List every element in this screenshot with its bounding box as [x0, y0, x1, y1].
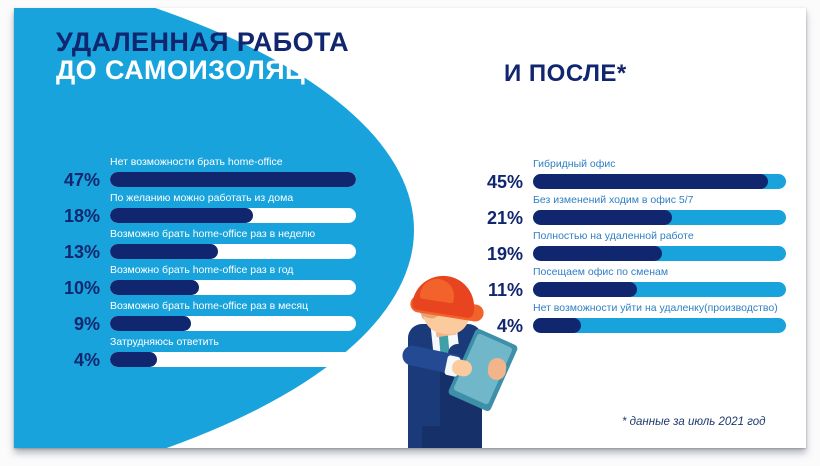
- bar-row: 47% Нет возможности брать home-office: [54, 156, 364, 192]
- bar-value: 18%: [54, 206, 100, 227]
- bar-fill: [110, 208, 253, 223]
- bar-fill: [110, 352, 157, 367]
- bar-row: 13% Возможно брать home-office раз в нед…: [54, 228, 364, 264]
- infographic-card: УДАЛЕННАЯ РАБОТА ДО САМОИЗОЛЯЦИИ И ПОСЛЕ…: [14, 8, 806, 448]
- bar-label: Возможно брать home-office раз в неделю: [110, 228, 315, 240]
- bar-value: 45%: [477, 172, 523, 193]
- bar-row: 10% Возможно брать home-office раз в год: [54, 264, 364, 300]
- bar-fill: [533, 282, 637, 297]
- bar-row: 21% Без изменений ходим в офис 5/7: [477, 194, 797, 230]
- bar-value: 10%: [54, 278, 100, 299]
- right-title: И ПОСЛЕ*: [504, 60, 627, 88]
- bar-track: [110, 208, 356, 223]
- footnote: * данные за июль 2021 год: [622, 416, 766, 428]
- screenshot-root: УДАЛЕННАЯ РАБОТА ДО САМОИЗОЛЯЦИИ И ПОСЛЕ…: [0, 0, 820, 466]
- bar-fill: [110, 316, 191, 331]
- bar-row: 45% Гибридный офис: [477, 158, 797, 194]
- bar-label: Посещаем офис по сменам: [533, 266, 668, 278]
- bar-value: 13%: [54, 242, 100, 263]
- bar-track: [533, 318, 786, 333]
- bar-fill: [110, 172, 356, 187]
- bar-value: 4%: [54, 350, 100, 371]
- bar-fill: [533, 246, 662, 261]
- bar-label: Нет возможности уйти на удаленку(произво…: [533, 302, 778, 314]
- bar-track: [533, 282, 786, 297]
- chart-before: 47% Нет возможности брать home-office 18…: [54, 156, 364, 372]
- bar-value: 21%: [477, 208, 523, 229]
- bar-fill: [110, 280, 199, 295]
- bar-row: 9% Возможно брать home-office раз в меся…: [54, 300, 364, 336]
- bar-track: [110, 316, 356, 331]
- bar-track: [533, 210, 786, 225]
- businessman-illustration: [388, 276, 528, 448]
- bar-fill: [533, 174, 768, 189]
- bar-label: Возможно брать home-office раз в месяц: [110, 300, 308, 312]
- bar-row: 4% Затрудняюсь ответить: [54, 336, 364, 372]
- bar-fill: [110, 244, 218, 259]
- left-title: УДАЛЕННАЯ РАБОТА ДО САМОИЗОЛЯЦИИ: [56, 28, 386, 84]
- bar-value: 19%: [477, 244, 523, 265]
- bar-track: [110, 244, 356, 259]
- bar-label: По желанию можно работать из дома: [110, 192, 293, 204]
- bar-track: [110, 352, 356, 367]
- bar-row: 19% Полностью на удаленной работе: [477, 230, 797, 266]
- bar-label: Полностью на удаленной работе: [533, 230, 694, 242]
- bar-label: Нет возможности брать home-office: [110, 156, 283, 168]
- bar-label: Возможно брать home-office раз в год: [110, 264, 293, 276]
- bar-value: 47%: [54, 170, 100, 191]
- bar-track: [110, 172, 356, 187]
- bar-label: Затрудняюсь ответить: [110, 336, 219, 348]
- bar-fill: [533, 210, 672, 225]
- bar-track: [533, 246, 786, 261]
- bar-label: Без изменений ходим в офис 5/7: [533, 194, 694, 206]
- bar-track: [533, 174, 786, 189]
- bar-track: [110, 280, 356, 295]
- bar-value: 9%: [54, 314, 100, 335]
- bar-fill: [533, 318, 581, 333]
- bar-label: Гибридный офис: [533, 158, 616, 170]
- left-title-line2: ДО САМОИЗОЛЯЦИИ: [56, 56, 386, 84]
- left-title-line1: УДАЛЕННАЯ РАБОТА: [56, 28, 386, 56]
- bar-row: 18% По желанию можно работать из дома: [54, 192, 364, 228]
